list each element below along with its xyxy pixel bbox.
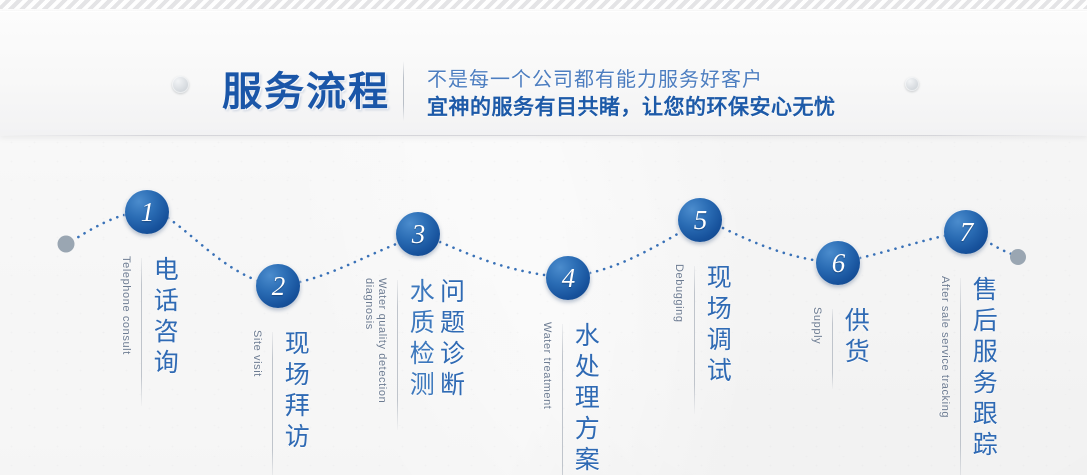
connector-start-dot — [58, 236, 75, 253]
subtitle-line-1: 不是每一个公司都有能力服务好客户 — [427, 66, 836, 92]
step-label-en-3: Water quality detection diagnosis — [362, 278, 388, 428]
step-number-badge-1[interactable]: 1 — [125, 190, 169, 234]
step-label-7: 售后服务跟踪 After sale service tracking — [938, 276, 996, 475]
step-number-1: 1 — [140, 199, 155, 226]
page-root: 服务流程 不是每一个公司都有能力服务好客户 宜神的服务有目共睹，让您的环保安心无… — [0, 0, 1087, 475]
step-label-cn-7: 售后服务跟踪 — [970, 276, 996, 462]
decor-dot-left-icon — [172, 76, 189, 93]
label-divider-3 — [397, 280, 398, 430]
service-flow-diagram: 1 电话咨询 Telephone consult 2 现场拜访 Site vis… — [0, 136, 1087, 475]
step-label-3: 问题诊断 水质检测 Water quality detection diagno… — [362, 278, 464, 430]
label-divider-4 — [562, 324, 563, 475]
step-number-badge-5[interactable]: 5 — [678, 198, 722, 242]
step-label-cn-1: 电话咨询 — [151, 256, 177, 380]
step-label-en-1: Telephone consult — [119, 256, 132, 355]
step-number-3: 3 — [411, 221, 426, 248]
label-divider-6 — [832, 309, 833, 389]
step-number-badge-6[interactable]: 6 — [816, 241, 860, 285]
label-divider-7 — [960, 278, 961, 475]
step-number-2: 2 — [271, 273, 286, 300]
step-label-2: 现场拜访 Site visit — [250, 330, 308, 475]
step-label-en-2: Site visit — [250, 330, 263, 377]
step-label-cn-4: 水处理方案 — [572, 322, 598, 475]
step-label-en-4: Water treatment — [540, 322, 553, 409]
top-hatch-strip — [0, 0, 1087, 9]
step-number-5: 5 — [693, 207, 708, 234]
step-label-cn-2: 现场拜访 — [282, 330, 308, 454]
label-divider-2 — [272, 332, 273, 475]
step-label-cn-5: 现场调试 — [704, 264, 730, 388]
step-label-cn-3: 问题诊断 — [437, 278, 463, 402]
step-label-1: 电话咨询 Telephone consult — [119, 256, 177, 406]
step-label-cn2-3: 水质检测 — [407, 278, 433, 402]
step-number-4: 4 — [561, 265, 576, 292]
step-number-badge-3[interactable]: 3 — [396, 212, 440, 256]
header-subtitle: 不是每一个公司都有能力服务好客户 宜神的服务有目共睹，让您的环保安心无忧 — [427, 66, 836, 122]
page-title: 服务流程 — [222, 59, 390, 117]
step-label-en-7: After sale service tracking — [938, 276, 951, 418]
step-label-en-6: Supply — [810, 307, 823, 344]
subtitle-line-2: 宜神的服务有目共睹，让您的环保安心无忧 — [427, 92, 836, 122]
label-divider-5 — [694, 266, 695, 414]
step-label-en-5: Debugging — [672, 264, 685, 323]
label-divider-1 — [141, 258, 142, 406]
title-divider — [403, 61, 404, 121]
step-number-6: 6 — [831, 250, 846, 277]
step-number-badge-2[interactable]: 2 — [256, 264, 300, 308]
step-label-cn-6: 供货 — [842, 307, 868, 369]
step-number-7: 7 — [959, 219, 974, 246]
step-number-badge-7[interactable]: 7 — [944, 210, 988, 254]
header-banner: 服务流程 不是每一个公司都有能力服务好客户 宜神的服务有目共睹，让您的环保安心无… — [0, 11, 1087, 136]
step-label-6: 供货 Supply — [810, 307, 868, 389]
step-label-5: 现场调试 Debugging — [672, 264, 730, 414]
step-number-badge-4[interactable]: 4 — [546, 256, 590, 300]
connector-end-dot — [1010, 249, 1026, 265]
decor-dot-right-icon — [905, 77, 919, 91]
step-label-4: 水处理方案 Water treatment — [540, 322, 598, 475]
